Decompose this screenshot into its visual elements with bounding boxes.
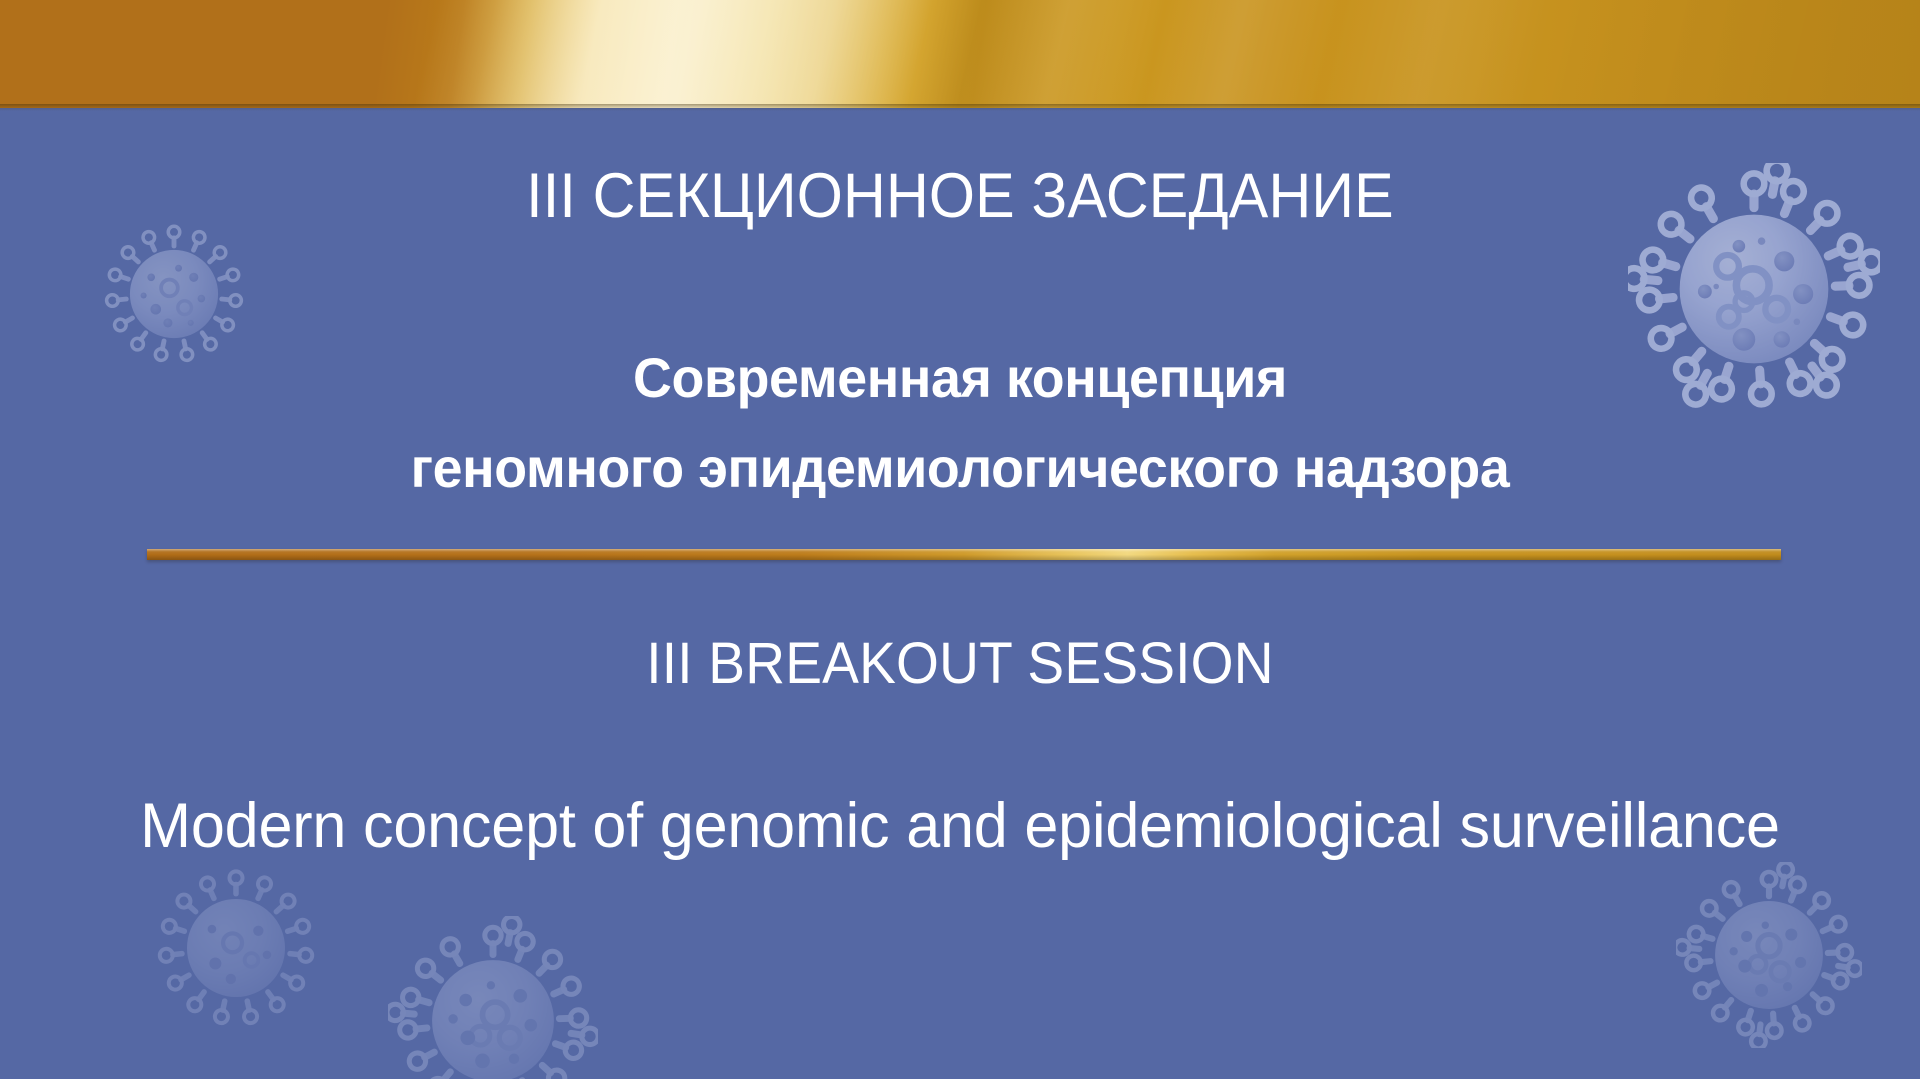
- russian-subtitle-line-1: Современная концепция: [38, 345, 1881, 410]
- slide-content: III СЕКЦИОННОЕ ЗАСЕДАНИЕ Современная кон…: [0, 108, 1920, 1079]
- russian-subtitle-line-2: геномного эпидемиологического надзора: [38, 435, 1881, 500]
- gold-header-band: [0, 0, 1920, 108]
- english-subtitle: Modern concept of genomic and epidemiolo…: [29, 790, 1891, 862]
- presentation-slide: III СЕКЦИОННОЕ ЗАСЕДАНИЕ Современная кон…: [0, 0, 1920, 1079]
- gold-divider-rule: [147, 549, 1781, 560]
- russian-session-heading: III СЕКЦИОННОЕ ЗАСЕДАНИЕ: [58, 160, 1863, 232]
- english-session-heading: III BREAKOUT SESSION: [48, 630, 1872, 697]
